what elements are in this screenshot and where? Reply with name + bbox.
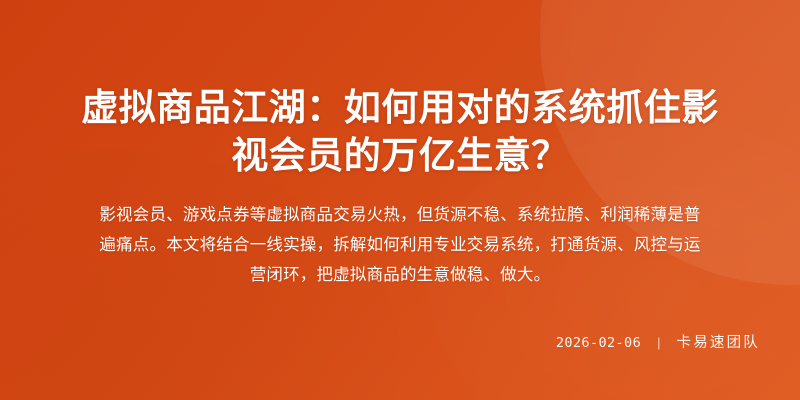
poster-card: 虚拟商品江湖：如何用对的系统抓住影 视会员的万亿生意？ 影视会员、游戏点券等虚拟… (0, 0, 800, 400)
title-line-2: 视会员的万亿生意？ (36, 132, 764, 180)
summary-text: 影视会员、游戏点券等虚拟商品交易火热，但货源不稳、系统拉胯、利润稀薄是普 遍痛点… (37, 200, 763, 290)
publish-date: 2026-02-06 (556, 333, 641, 353)
title-line-1: 虚拟商品江湖：如何用对的系统抓住影 (36, 84, 764, 132)
meta-separator: | (641, 333, 676, 353)
poster-meta: 2026-02-06 | 卡易速团队 (556, 333, 760, 353)
poster-content: 虚拟商品江湖：如何用对的系统抓住影 视会员的万亿生意？ 影视会员、游戏点券等虚拟… (0, 0, 800, 400)
summary-line-1: 影视会员、游戏点券等虚拟商品交易火热，但货源不稳、系统拉胯、利润稀薄是普 (37, 200, 763, 230)
summary-line-2: 遍痛点。本文将结合一线实操，拆解如何利用专业交易系统，打通货源、风控与运 (37, 230, 763, 260)
author-name: 卡易速团队 (677, 333, 761, 353)
page-title: 虚拟商品江湖：如何用对的系统抓住影 视会员的万亿生意？ (36, 84, 764, 180)
summary-line-3: 营闭环，把虚拟商品的生意做稳、做大。 (37, 260, 763, 290)
